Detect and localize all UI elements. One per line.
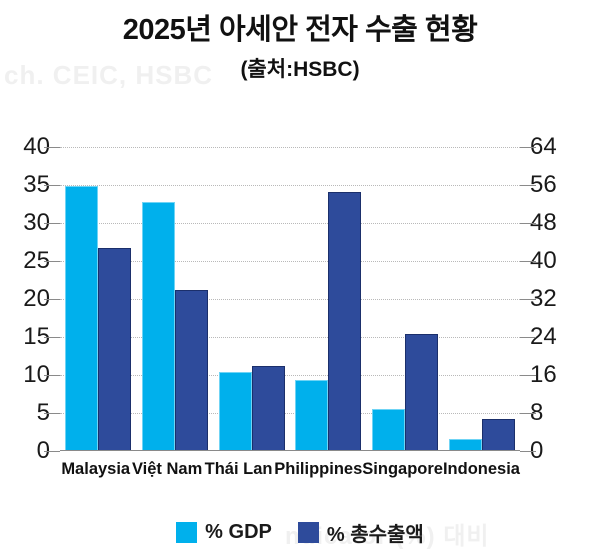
bar-gdp[interactable] bbox=[219, 372, 252, 451]
bar-group bbox=[213, 147, 290, 451]
x-axis-category-label: Philippines bbox=[274, 460, 362, 479]
y-axis-right-tick-mark bbox=[520, 299, 536, 300]
y-axis-left-tick-mark bbox=[44, 451, 60, 452]
bar-gdp[interactable] bbox=[65, 186, 98, 451]
bar-gdp[interactable] bbox=[295, 380, 328, 451]
bar-group bbox=[137, 147, 214, 451]
bar-groups bbox=[60, 147, 520, 451]
x-axis-baseline bbox=[60, 450, 520, 451]
chart-title: 2025년 아세안 전자 수출 현황 bbox=[0, 14, 600, 47]
bar-export[interactable] bbox=[252, 366, 285, 451]
bar-export[interactable] bbox=[482, 419, 515, 451]
y-axis-left-tick-mark bbox=[44, 375, 60, 376]
y-axis-left-tick-mark bbox=[44, 413, 60, 414]
bar-group bbox=[60, 147, 137, 451]
chart-title-block: 2025년 아세안 전자 수출 현황 (출처:HSBC) bbox=[0, 14, 600, 83]
y-axis-right-tick-mark bbox=[520, 147, 536, 148]
bar-group bbox=[443, 147, 520, 451]
y-axis-right-tick-mark bbox=[520, 451, 536, 452]
x-axis-category-label: Singapore bbox=[362, 460, 443, 479]
y-axis-left-tick-mark bbox=[44, 299, 60, 300]
y-axis-left-tick-mark bbox=[44, 223, 60, 224]
bar-export[interactable] bbox=[98, 248, 131, 451]
y-axis-right-tick-mark bbox=[520, 337, 536, 338]
bar-group bbox=[290, 147, 367, 451]
legend-swatch-icon bbox=[298, 522, 319, 543]
y-axis-right-tick-mark bbox=[520, 185, 536, 186]
legend-item[interactable]: % GDP bbox=[176, 521, 272, 544]
y-axis-right-tick-mark bbox=[520, 375, 536, 376]
chart-plot-wrapper: 0510152025303540 0816243240485664 Malays… bbox=[0, 120, 600, 465]
x-axis-category-label: Thái Lan bbox=[203, 460, 274, 479]
bar-export[interactable] bbox=[328, 192, 361, 451]
y-axis-right-tick-mark bbox=[520, 261, 536, 262]
chart-subtitle-source: (출처:HSBC) bbox=[0, 53, 600, 83]
y-axis-right-tick-mark bbox=[520, 413, 536, 414]
legend-label: % 총수출액 bbox=[327, 518, 424, 547]
x-axis-category-label: Việt Nam bbox=[131, 460, 202, 479]
legend-label: % GDP bbox=[205, 521, 272, 544]
plot-area: 0510152025303540 0816243240485664 bbox=[60, 147, 520, 451]
y-axis-left-tick-mark bbox=[44, 337, 60, 338]
x-axis-category-label: Malaysia bbox=[60, 460, 131, 479]
x-axis-category-label: Indonesia bbox=[443, 460, 520, 479]
legend-swatch-icon bbox=[176, 522, 197, 543]
bar-export[interactable] bbox=[405, 334, 438, 451]
y-axis-left-tick-mark bbox=[44, 261, 60, 262]
bar-gdp[interactable] bbox=[142, 202, 175, 451]
y-axis-left-tick-mark bbox=[44, 185, 60, 186]
y-axis-left-tick-mark bbox=[44, 147, 60, 148]
x-axis-labels: MalaysiaViệt NamThái LanPhilippinesSinga… bbox=[60, 460, 520, 479]
bar-gdp[interactable] bbox=[372, 409, 405, 451]
legend-item[interactable]: % 총수출액 bbox=[298, 518, 424, 547]
bar-group bbox=[367, 147, 444, 451]
y-axis-right-tick-mark bbox=[520, 223, 536, 224]
bar-export[interactable] bbox=[175, 290, 208, 451]
chart-legend: % GDP% 총수출액 bbox=[0, 518, 600, 547]
